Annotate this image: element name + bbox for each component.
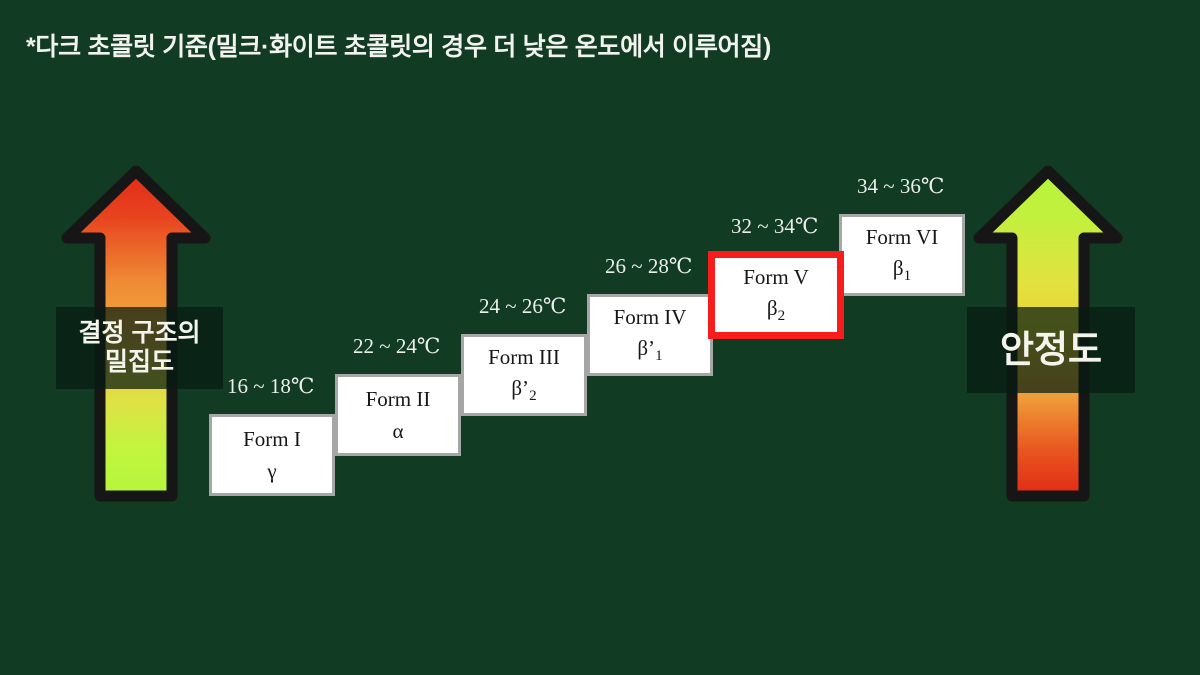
- polymorph-box-form-v[interactable]: Form Vβ2: [708, 251, 844, 339]
- polymorph-box-form-vi[interactable]: Form VIβ1: [839, 214, 965, 296]
- density-caption-text: 결정 구조의 밀집도: [79, 319, 201, 378]
- polymorph-symbol-subscript: 2: [778, 308, 786, 324]
- polymorph-symbol: β’2: [511, 375, 536, 406]
- polymorph-name: Form I: [243, 426, 301, 452]
- temperature-label: 24 ~ 26℃: [479, 294, 566, 319]
- polymorph-name: Form II: [366, 386, 431, 412]
- polymorph-symbol-glyph: β’: [511, 376, 529, 400]
- temperature-label: 26 ~ 28℃: [605, 254, 692, 279]
- density-arrow-caption: 결정 구조의 밀집도: [56, 307, 223, 389]
- polymorph-symbol-glyph: β’: [637, 336, 655, 360]
- polymorph-box-form-iv[interactable]: Form IVβ’1: [587, 294, 713, 376]
- polymorph-box-form-i[interactable]: Form Iγ: [209, 414, 335, 496]
- slide-canvas: *다크 초콜릿 기준(밀크·화이트 초콜릿의 경우 더 낮은 온도에서 이루어짐…: [0, 0, 1200, 675]
- polymorph-box-form-ii[interactable]: Form IIα: [335, 374, 461, 456]
- polymorph-symbol: β1: [893, 255, 911, 286]
- temperature-label: 34 ~ 36℃: [857, 174, 944, 199]
- polymorph-symbol-glyph: α: [392, 419, 403, 443]
- stability-arrow-caption: 안정도: [967, 307, 1135, 393]
- polymorph-symbol-subscript: 1: [655, 348, 663, 364]
- temperature-label: 32 ~ 34℃: [731, 214, 818, 239]
- temperature-label: 16 ~ 18℃: [227, 374, 314, 399]
- polymorph-symbol: γ: [267, 458, 276, 484]
- polymorph-symbol-glyph: γ: [267, 459, 276, 483]
- polymorph-name: Form VI: [866, 224, 939, 250]
- polymorph-name: Form V: [743, 264, 809, 290]
- polymorph-symbol: β’1: [637, 335, 662, 366]
- polymorph-name: Form IV: [614, 304, 687, 330]
- polymorph-symbol-glyph: β: [767, 296, 778, 320]
- polymorph-symbol: β2: [767, 295, 785, 326]
- temperature-label: 22 ~ 24℃: [353, 334, 440, 359]
- polymorph-symbol-subscript: 1: [904, 268, 912, 284]
- polymorph-symbol-glyph: β: [893, 256, 904, 280]
- polymorph-symbol: α: [392, 418, 403, 444]
- footnote-text: *다크 초콜릿 기준(밀크·화이트 초콜릿의 경우 더 낮은 온도에서 이루어짐…: [26, 27, 771, 63]
- stability-caption-text: 안정도: [1000, 328, 1102, 372]
- polymorph-symbol-subscript: 2: [529, 388, 537, 404]
- polymorph-name: Form III: [488, 344, 560, 370]
- polymorph-box-form-iii[interactable]: Form IIIβ’2: [461, 334, 587, 416]
